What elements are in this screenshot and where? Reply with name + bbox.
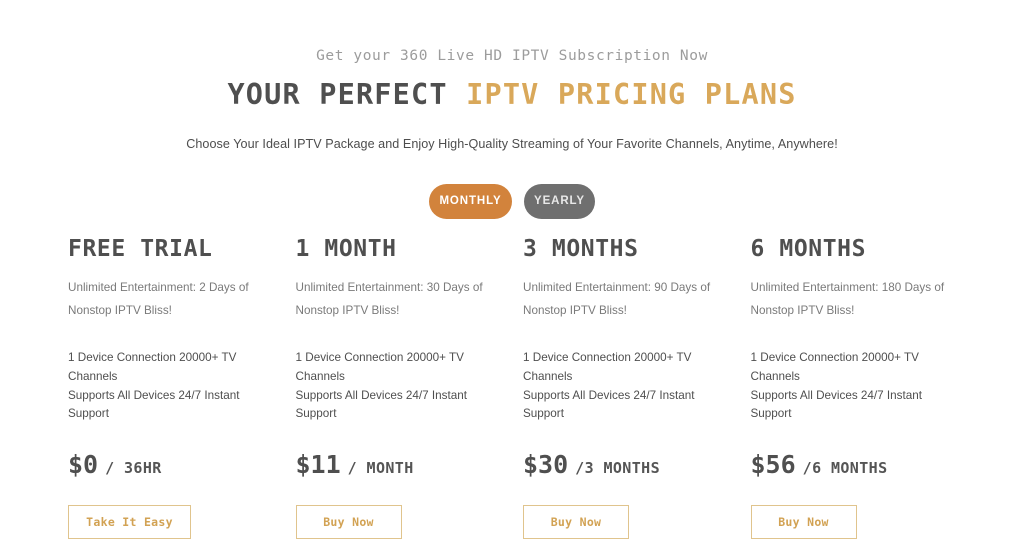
plan-cta-button[interactable]: Take It Easy xyxy=(68,505,191,539)
plan-features-line-1: 1 Device Connection 20000+ TV Channels xyxy=(68,351,236,383)
plan-features: 1 Device Connection 20000+ TV Channels S… xyxy=(68,349,281,425)
plan-features-line-2: Supports All Devices 24/7 Instant Suppor… xyxy=(296,389,468,421)
plan-price-period: /6 MONTHS xyxy=(803,459,888,477)
plan-description-line-1: Unlimited Entertainment: 2 Days of xyxy=(68,281,249,294)
page-title-primary: YOUR PERFECT xyxy=(227,78,447,111)
page-subtitle: Choose Your Ideal IPTV Package and Enjoy… xyxy=(0,137,1024,152)
plan-description: Unlimited Entertainment: 90 Days of Nons… xyxy=(523,277,736,323)
plan-price-period: /3 MONTHS xyxy=(575,459,660,477)
page-title-accent: IPTV PRICING PLANS xyxy=(466,78,796,111)
plan-description-line-2: Nonstop IPTV Bliss! xyxy=(296,304,400,317)
plan-name: 1 MONTH xyxy=(296,238,509,261)
plan-price-row: $0 / 36HR xyxy=(68,450,281,479)
plan-cta-button[interactable]: Buy Now xyxy=(751,505,857,539)
plan-name: 3 MONTHS xyxy=(523,238,736,261)
pricing-plan-grid: FREE TRIAL Unlimited Entertainment: 2 Da… xyxy=(68,238,988,539)
plan-name: 6 MONTHS xyxy=(751,238,964,261)
plan-features: 1 Device Connection 20000+ TV Channels S… xyxy=(751,349,964,425)
plan-features-line-1: 1 Device Connection 20000+ TV Channels xyxy=(523,351,691,383)
plan-description-line-1: Unlimited Entertainment: 180 Days of xyxy=(751,281,945,294)
pricing-plan-card: 1 MONTH Unlimited Entertainment: 30 Days… xyxy=(296,238,509,539)
plan-cta-button[interactable]: Buy Now xyxy=(296,505,402,539)
pricing-plan-card: 6 MONTHS Unlimited Entertainment: 180 Da… xyxy=(751,238,964,539)
billing-toggle-yearly[interactable]: YEARLY xyxy=(524,184,595,219)
plan-price-period: / 36HR xyxy=(105,459,162,477)
plan-price-amount: $56 xyxy=(751,450,796,479)
plan-description-line-2: Nonstop IPTV Bliss! xyxy=(68,304,172,317)
plan-cta-button[interactable]: Buy Now xyxy=(523,505,629,539)
header-eyebrow: Get your 360 Live HD IPTV Subscription N… xyxy=(0,49,1024,64)
plan-features: 1 Device Connection 20000+ TV Channels S… xyxy=(296,349,509,425)
plan-description: Unlimited Entertainment: 2 Days of Nonst… xyxy=(68,277,281,323)
plan-price-amount: $30 xyxy=(523,450,568,479)
page-header: Get your 360 Live HD IPTV Subscription N… xyxy=(0,0,1024,152)
plan-description-line-1: Unlimited Entertainment: 30 Days of xyxy=(296,281,483,294)
plan-price-amount: $11 xyxy=(296,450,341,479)
plan-description-line-1: Unlimited Entertainment: 90 Days of xyxy=(523,281,710,294)
plan-description: Unlimited Entertainment: 180 Days of Non… xyxy=(751,277,964,323)
billing-toggle-group: MONTHLY YEARLY xyxy=(0,184,1024,219)
plan-price-row: $11 / MONTH xyxy=(296,450,509,479)
plan-features: 1 Device Connection 20000+ TV Channels S… xyxy=(523,349,736,425)
plan-features-line-2: Supports All Devices 24/7 Instant Suppor… xyxy=(751,389,923,421)
plan-features-line-1: 1 Device Connection 20000+ TV Channels xyxy=(751,351,919,383)
plan-price-row: $30 /3 MONTHS xyxy=(523,450,736,479)
page-title: YOUR PERFECT IPTV PRICING PLANS xyxy=(0,79,1024,110)
plan-features-line-1: 1 Device Connection 20000+ TV Channels xyxy=(296,351,464,383)
pricing-plan-card: 3 MONTHS Unlimited Entertainment: 90 Day… xyxy=(523,238,736,539)
plan-description-line-2: Nonstop IPTV Bliss! xyxy=(523,304,627,317)
plan-price-period: / MONTH xyxy=(348,459,414,477)
pricing-page: Get your 360 Live HD IPTV Subscription N… xyxy=(0,0,1024,523)
plan-name: FREE TRIAL xyxy=(68,238,281,261)
plan-price-row: $56 /6 MONTHS xyxy=(751,450,964,479)
billing-toggle-monthly[interactable]: MONTHLY xyxy=(429,184,512,219)
plan-features-line-2: Supports All Devices 24/7 Instant Suppor… xyxy=(523,389,695,421)
plan-features-line-2: Supports All Devices 24/7 Instant Suppor… xyxy=(68,389,240,421)
plan-description-line-2: Nonstop IPTV Bliss! xyxy=(751,304,855,317)
pricing-plan-card: FREE TRIAL Unlimited Entertainment: 2 Da… xyxy=(68,238,281,539)
plan-description: Unlimited Entertainment: 30 Days of Nons… xyxy=(296,277,509,323)
plan-price-amount: $0 xyxy=(68,450,98,479)
